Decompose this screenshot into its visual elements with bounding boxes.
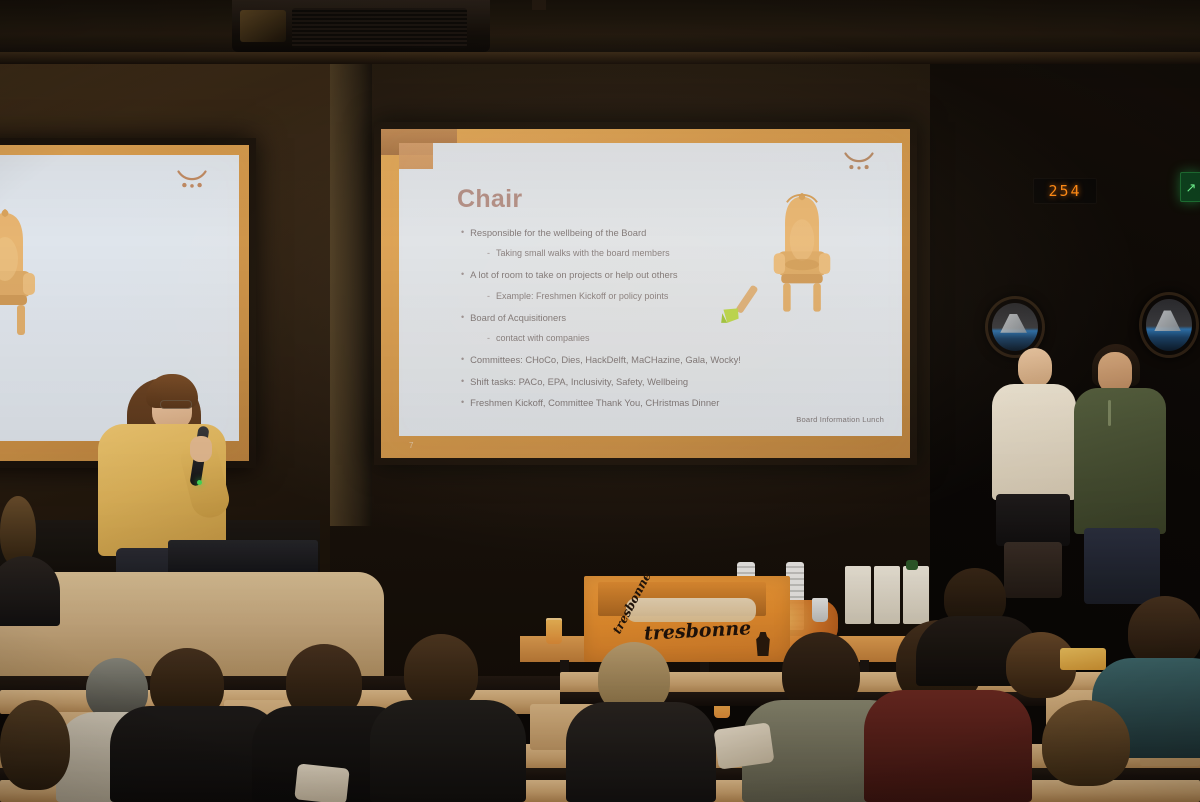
bullet-text: Freshmen Kickoff, Committee Thank You, C…	[470, 397, 719, 409]
cream-sweater	[992, 384, 1076, 500]
single-cup	[812, 598, 828, 622]
bullet-marker: •	[461, 227, 464, 239]
audience-shoulders	[864, 690, 1032, 802]
owl-logo	[842, 151, 876, 173]
bullet-marker: •	[461, 312, 464, 324]
projection-screen-main: Chair • Responsible for the wellbeing of…	[374, 122, 917, 465]
slide-title: Chair	[457, 185, 522, 214]
hood-drawstring	[1108, 400, 1111, 426]
bullet-text: Shift tasks: PACo, EPA, Inclusivity, Saf…	[470, 376, 688, 388]
throne-chair-graphic	[0, 207, 45, 347]
bottle-cap	[906, 560, 918, 570]
exit-arrow-icon: ↗	[1186, 181, 1197, 194]
slide-footer: Board Information Lunch	[796, 415, 884, 424]
bullet-item: • Freshmen Kickoff, Committee Thank You,…	[461, 397, 801, 409]
slide-content: Chair • Responsible for the wellbeing of…	[381, 129, 910, 458]
projector-vent	[292, 8, 467, 48]
crate-logo-icon	[754, 632, 772, 656]
throne-chair-graphic	[764, 191, 840, 323]
bullet-text: Committees: CHoCo, Dies, HackDelft, MaCH…	[470, 354, 741, 366]
food-tray	[1060, 648, 1106, 670]
porthole-view	[1146, 299, 1192, 351]
bullet-text: Taking small walks with the board member…	[496, 248, 670, 259]
bullet-text: Example: Freshmen Kickoff or policy poin…	[496, 291, 668, 302]
juice-carton	[874, 566, 900, 624]
bullet-marker: •	[461, 354, 464, 366]
ceiling-projector	[232, 0, 490, 52]
bullet-item: • Committees: CHoCo, Dies, HackDelft, Ma…	[461, 354, 801, 366]
audience-shoulders	[370, 700, 526, 802]
bullet-text: Board of Acquisitioners	[470, 312, 566, 324]
bullet-text: contact with companies	[496, 333, 590, 344]
digital-clock: 254	[1033, 178, 1097, 204]
napkin	[294, 763, 349, 802]
bullet-item: • Shift tasks: PACo, EPA, Inclusivity, S…	[461, 376, 801, 388]
ceiling-beam	[0, 52, 1200, 64]
emergency-exit-sign: ↗	[1180, 172, 1200, 202]
bullet-text: Responsible for the wellbeing of the Boa…	[470, 227, 646, 239]
wall-pillar	[330, 56, 372, 526]
bullet-marker: •	[461, 376, 464, 388]
bullet-item: • A lot of room to take on projects or h…	[461, 269, 801, 281]
juice-carton	[903, 566, 929, 624]
porthole-structure	[1000, 314, 1027, 333]
microphone-led-indicator	[197, 480, 202, 485]
porthole-structure	[1154, 310, 1181, 331]
owl-logo	[175, 169, 209, 191]
audience-shoulders	[566, 702, 716, 802]
slide-number: 7	[409, 441, 413, 450]
bullet-item: - Taking small walks with the board memb…	[487, 248, 801, 260]
porthole-window-right	[1139, 292, 1199, 358]
projector-mount-arm	[532, 0, 546, 10]
bullet-marker: -	[487, 291, 490, 303]
hand	[190, 436, 212, 462]
audience-head	[0, 700, 70, 790]
bullet-item: - contact with companies	[487, 333, 801, 345]
glasses-icon	[160, 400, 192, 409]
bullet-text: A lot of room to take on projects or hel…	[470, 269, 677, 281]
juice-carton	[845, 566, 871, 624]
black-skirt	[996, 494, 1070, 546]
crate-label-front: tresbonne	[643, 617, 751, 645]
bullet-marker: •	[461, 397, 464, 409]
clock-digits: 254	[1048, 182, 1081, 200]
porthole-view	[992, 303, 1038, 351]
audience-head	[1042, 700, 1130, 786]
napkin	[713, 722, 774, 769]
legs	[1004, 542, 1062, 598]
jeans	[1084, 528, 1160, 604]
screen-main-surface: Chair • Responsible for the wellbeing of…	[381, 129, 910, 458]
audience-head	[404, 634, 478, 710]
bullet-item: • Responsible for the wellbeing of the B…	[461, 227, 801, 239]
bullet-marker: -	[487, 248, 490, 260]
bullet-marker: -	[487, 333, 490, 345]
green-hoodie	[1074, 388, 1166, 534]
juice-glass	[546, 618, 562, 644]
head	[1018, 348, 1052, 388]
screen-left-surface: ers others nts Hazine, Gala, Wocky! Well…	[0, 145, 249, 461]
lecture-hall-scene: ers others nts Hazine, Gala, Wocky! Well…	[0, 0, 1200, 802]
bullet-marker: •	[461, 269, 464, 281]
projector-lens	[240, 10, 286, 42]
